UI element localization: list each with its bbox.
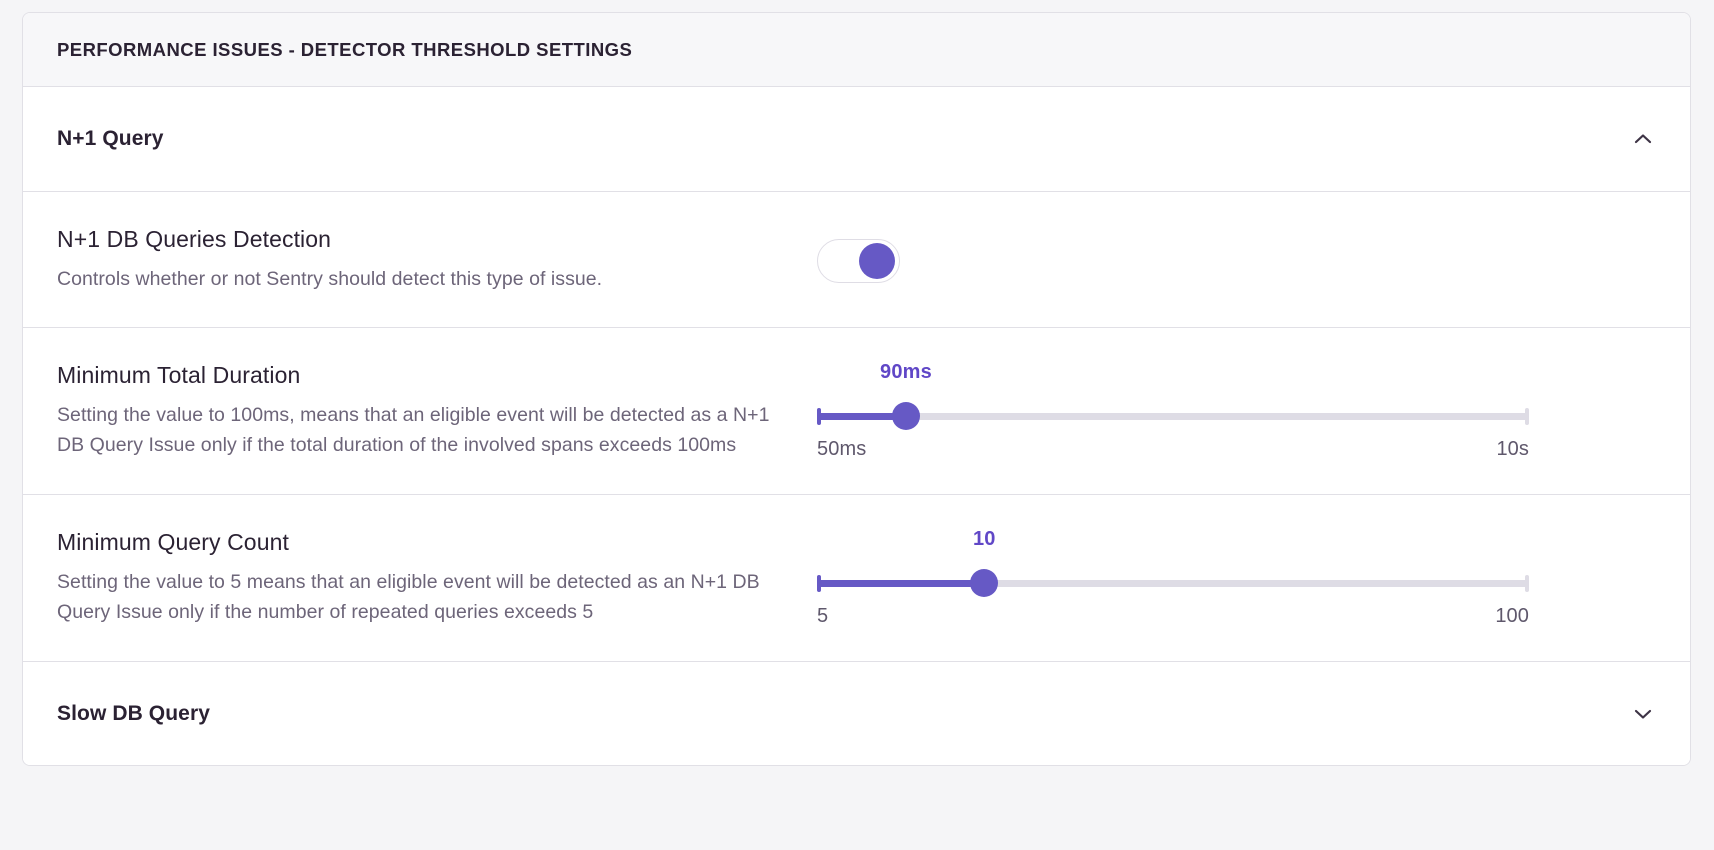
page-title: PERFORMANCE ISSUES - DETECTOR THRESHOLD … — [57, 39, 1656, 61]
group-title: Slow DB Query — [57, 702, 210, 726]
slider-value-label: 90ms — [880, 361, 932, 384]
slider-cap-right — [1525, 408, 1529, 425]
setting-row-minimum-query-count: Minimum Query Count Setting the value to… — [23, 494, 1690, 661]
minimum-query-count-slider[interactable]: 10 5 100 — [817, 528, 1529, 628]
slider-max-label: 10s — [1496, 438, 1529, 461]
slider-rail — [817, 413, 1529, 420]
setting-label: Minimum Total Duration — [57, 361, 793, 390]
setting-help-text: Controls whether or not Sentry should de… — [57, 264, 787, 294]
slider-min-label: 5 — [817, 605, 828, 628]
chevron-up-icon[interactable] — [1630, 126, 1656, 152]
setting-description: Minimum Total Duration Setting the value… — [57, 361, 817, 460]
setting-description: N+1 DB Queries Detection Controls whethe… — [57, 225, 817, 294]
slider-thumb[interactable] — [892, 402, 920, 430]
panel-header: PERFORMANCE ISSUES - DETECTOR THRESHOLD … — [23, 13, 1690, 87]
group-title: N+1 Query — [57, 127, 164, 151]
slider-cap-left — [817, 575, 821, 592]
setting-label: N+1 DB Queries Detection — [57, 225, 793, 254]
slider-bounds: 5 100 — [817, 605, 1529, 628]
setting-label: Minimum Query Count — [57, 528, 793, 557]
slider-cap-left — [817, 408, 821, 425]
slider-max-label: 100 — [1495, 605, 1529, 628]
minimum-total-duration-slider[interactable]: 90ms 50ms 10s — [817, 361, 1529, 461]
group-header-slow-db-query[interactable]: Slow DB Query — [23, 661, 1690, 765]
setting-control — [817, 233, 1656, 287]
setting-description: Minimum Query Count Setting the value to… — [57, 528, 817, 627]
detector-threshold-settings-panel: PERFORMANCE ISSUES - DETECTOR THRESHOLD … — [22, 12, 1691, 766]
slider-thumb[interactable] — [970, 569, 998, 597]
setting-control: 90ms 50ms 10s — [817, 361, 1656, 461]
slider-fill — [817, 580, 984, 587]
chevron-down-icon[interactable] — [1630, 701, 1656, 727]
setting-help-text: Setting the value to 100ms, means that a… — [57, 400, 787, 460]
n-plus-1-db-queries-detection-toggle[interactable] — [817, 239, 900, 283]
slider-bounds: 50ms 10s — [817, 438, 1529, 461]
setting-row-n-plus-1-db-queries-detection: N+1 DB Queries Detection Controls whethe… — [23, 191, 1690, 327]
slider-track[interactable] — [817, 572, 1529, 594]
slider-track[interactable] — [817, 405, 1529, 427]
slider-cap-right — [1525, 575, 1529, 592]
slider-value-label: 10 — [973, 528, 996, 551]
setting-help-text: Setting the value to 5 means that an eli… — [57, 567, 787, 627]
group-header-n-plus-1-query[interactable]: N+1 Query — [23, 87, 1690, 191]
setting-control: 10 5 100 — [817, 528, 1656, 628]
slider-min-label: 50ms — [817, 438, 866, 461]
setting-row-minimum-total-duration: Minimum Total Duration Setting the value… — [23, 327, 1690, 494]
toggle-knob — [859, 243, 895, 279]
